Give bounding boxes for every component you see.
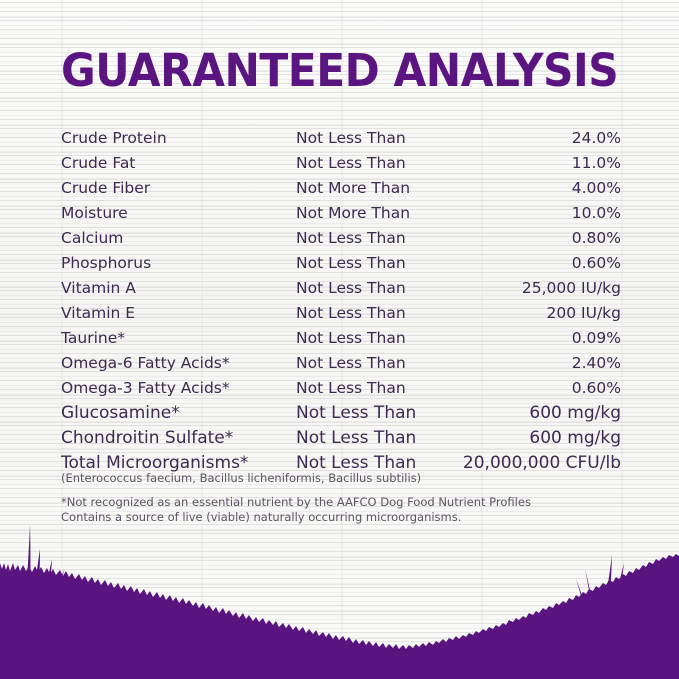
nutrient-value: 25,000 IU/kg: [461, 276, 621, 301]
table-row: CalciumNot Less Than0.80%: [61, 226, 621, 251]
footnote-aafco: *Not recognized as an essential nutrient…: [61, 495, 531, 510]
nutrient-value: 24.0%: [461, 126, 621, 151]
nutrient-name: Phosphorus: [61, 251, 296, 276]
nutrient-qualifier: Not Less Than: [296, 301, 461, 326]
nutrient-name: Vitamin E: [61, 301, 296, 326]
table-row: Omega-3 Fatty Acids*Not Less Than0.60%: [61, 376, 621, 401]
nutrient-value: 20,000,000 CFU/lb: [461, 451, 621, 476]
nutrient-name: Omega-6 Fatty Acids*: [61, 351, 296, 376]
probiotic-strains-note: (Enterococcus faecium, Bacillus lichenif…: [61, 470, 421, 486]
table-row: MoistureNot More Than10.0%: [61, 201, 621, 226]
table-row: Vitamin ANot Less Than25,000 IU/kg: [61, 276, 621, 301]
guaranteed-analysis-table: Crude ProteinNot Less Than24.0%Crude Fat…: [61, 126, 621, 476]
nutrient-qualifier: Not More Than: [296, 201, 461, 226]
nutrient-value: 0.09%: [461, 326, 621, 351]
table-row: Crude ProteinNot Less Than24.0%: [61, 126, 621, 151]
nutrient-value: 200 IU/kg: [461, 301, 621, 326]
nutrient-qualifier: Not Less Than: [296, 276, 461, 301]
nutrient-name: Glucosamine*: [61, 401, 296, 426]
nutrient-name: Omega-3 Fatty Acids*: [61, 376, 296, 401]
table-row: Omega-6 Fatty Acids*Not Less Than2.40%: [61, 351, 621, 376]
nutrient-name: Crude Fiber: [61, 176, 296, 201]
nutrient-name: Chondroitin Sulfate*: [61, 426, 296, 451]
grass-silhouette: [0, 519, 679, 679]
table-row: Crude FatNot Less Than11.0%: [61, 151, 621, 176]
nutrient-name: Crude Protein: [61, 126, 296, 151]
nutrient-qualifier: Not Less Than: [296, 351, 461, 376]
nutrient-qualifier: Not More Than: [296, 176, 461, 201]
nutrient-value: 0.80%: [461, 226, 621, 251]
nutrient-name: Crude Fat: [61, 151, 296, 176]
nutrient-value: 0.60%: [461, 251, 621, 276]
nutrient-name: Calcium: [61, 226, 296, 251]
nutrient-name: Moisture: [61, 201, 296, 226]
nutrient-value: 600 mg/kg: [461, 401, 621, 426]
nutrient-qualifier: Not Less Than: [296, 326, 461, 351]
nutrient-name: Vitamin A: [61, 276, 296, 301]
nutrient-qualifier: Not Less Than: [296, 126, 461, 151]
nutrient-value: 4.00%: [461, 176, 621, 201]
nutrient-qualifier: Not Less Than: [296, 251, 461, 276]
nutrient-value: 11.0%: [461, 151, 621, 176]
table-row: Chondroitin Sulfate*Not Less Than600 mg/…: [61, 426, 621, 451]
guaranteed-analysis-panel: GUARANTEED ANALYSIS Crude ProteinNot Les…: [0, 0, 679, 679]
table-row: Taurine*Not Less Than0.09%: [61, 326, 621, 351]
nutrient-value: 600 mg/kg: [461, 426, 621, 451]
nutrient-name: Taurine*: [61, 326, 296, 351]
nutrient-qualifier: Not Less Than: [296, 226, 461, 251]
nutrient-qualifier: Not Less Than: [296, 426, 461, 451]
nutrient-value: 2.40%: [461, 351, 621, 376]
table-row: Crude FiberNot More Than4.00%: [61, 176, 621, 201]
table-row: Glucosamine*Not Less Than600 mg/kg: [61, 401, 621, 426]
nutrient-qualifier: Not Less Than: [296, 376, 461, 401]
nutrient-qualifier: Not Less Than: [296, 151, 461, 176]
table-row: Vitamin ENot Less Than200 IU/kg: [61, 301, 621, 326]
page-title: GUARANTEED ANALYSIS: [61, 47, 618, 95]
table-row: PhosphorusNot Less Than0.60%: [61, 251, 621, 276]
nutrient-value: 10.0%: [461, 201, 621, 226]
nutrient-value: 0.60%: [461, 376, 621, 401]
nutrient-qualifier: Not Less Than: [296, 401, 461, 426]
